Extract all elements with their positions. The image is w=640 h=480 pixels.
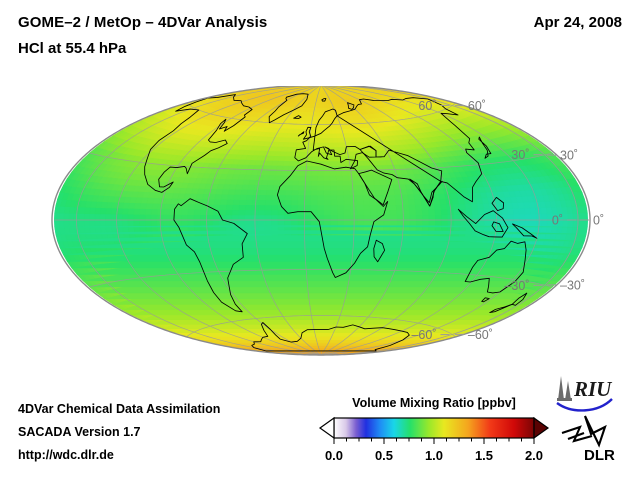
dlr-logo: DLR xyxy=(562,416,615,464)
logo-group: RIU DLR xyxy=(552,370,640,468)
colorbar-title: Volume Mixing Ratio [ppbv] xyxy=(318,396,550,410)
colorbar-scale: 0.00.51.01.52.0 xyxy=(318,416,550,468)
figure-root: GOME–2 / MetOp – 4DVar Analysis HCl at 5… xyxy=(0,0,640,480)
colorbar-tick-label: 1.0 xyxy=(425,448,443,463)
date-label: Apr 24, 2008 xyxy=(534,14,622,31)
footer-line-2: SACADA Version 1.7 xyxy=(18,425,141,439)
hammer-projection-map: 60˚60˚30˚30˚0˚0˚–30˚–30˚–60˚–60˚ xyxy=(0,86,640,382)
colorbar-tick-label: 0.0 xyxy=(325,448,343,463)
colorbar-tick-label: 1.5 xyxy=(475,448,493,463)
page-subtitle: HCl at 55.4 hPa xyxy=(18,40,126,57)
colorbar-tick-label: 0.5 xyxy=(375,448,393,463)
riu-logo: RIU xyxy=(557,376,613,410)
riu-towers-icon xyxy=(557,376,572,401)
concentration-field xyxy=(54,86,587,355)
map-panel: 60˚60˚30˚30˚0˚0˚–30˚–30˚–60˚–60˚ xyxy=(0,86,640,382)
footer-url[interactable]: http://wdc.dlr.de xyxy=(18,448,114,462)
dlr-mark-icon xyxy=(562,416,605,445)
colorbar-tick-label: 2.0 xyxy=(525,448,543,463)
page-title: GOME–2 / MetOp – 4DVar Analysis xyxy=(18,14,267,31)
riu-wordmark: RIU xyxy=(573,377,613,401)
dlr-wordmark: DLR xyxy=(584,447,615,464)
footer-line-1: 4DVar Chemical Data Assimilation xyxy=(18,402,220,416)
colorbar: Volume Mixing Ratio [ppbv] 0.00.51.01.52… xyxy=(318,396,550,468)
